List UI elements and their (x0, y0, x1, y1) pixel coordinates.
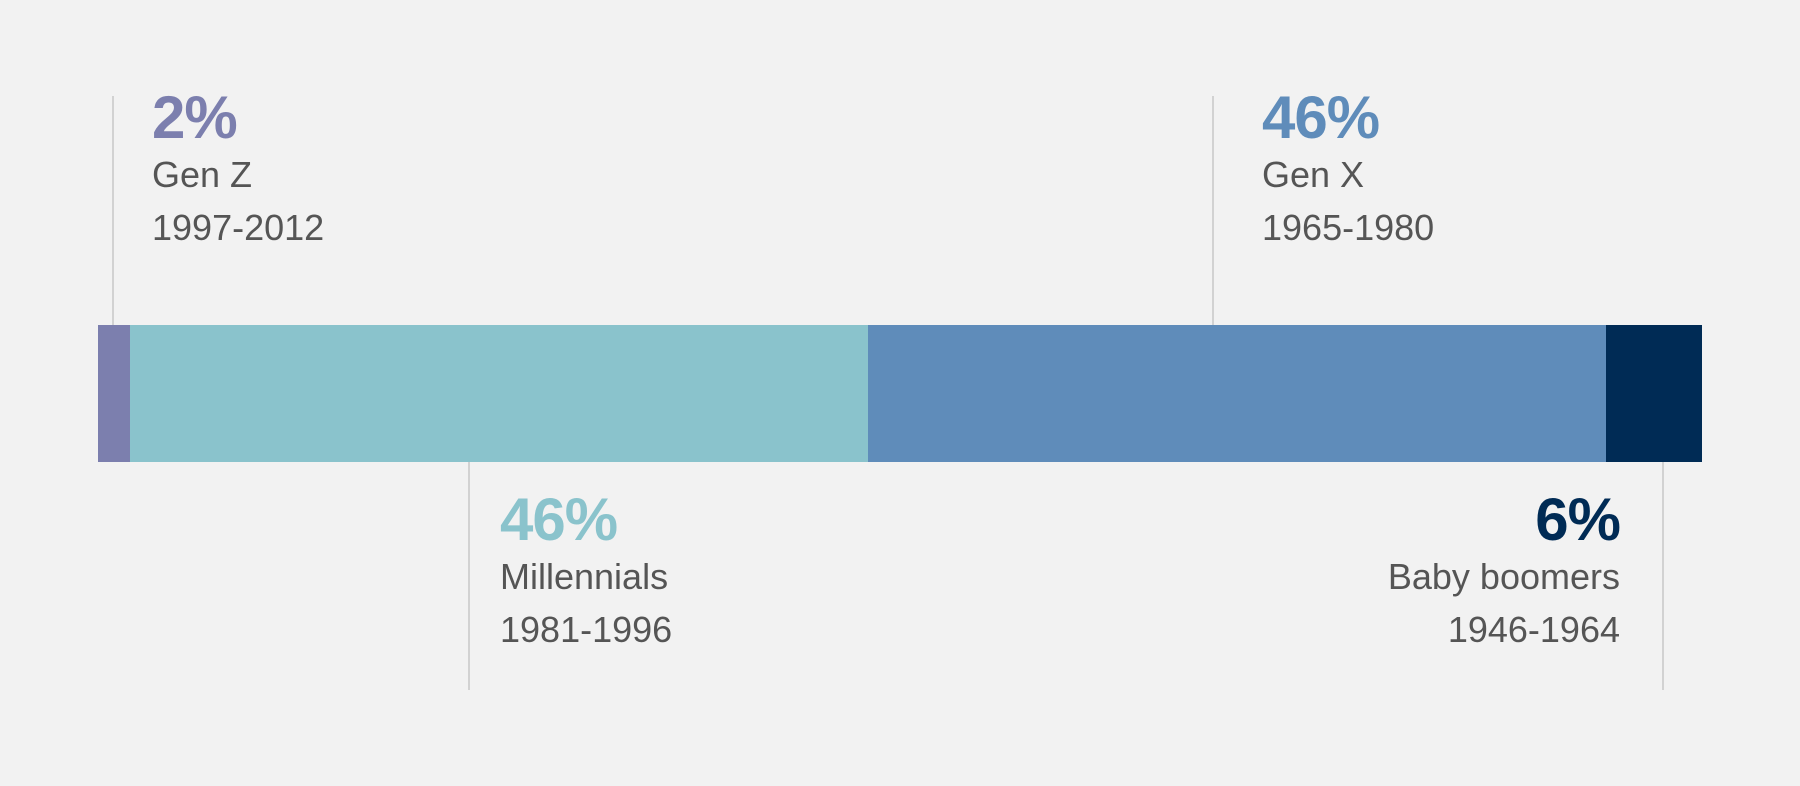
leader-line-gen-x (1212, 96, 1214, 325)
category-label-baby-boomers: Baby boomers (1388, 550, 1620, 603)
leader-line-millennials (468, 462, 470, 690)
category-label-gen-x: Gen X (1262, 148, 1434, 201)
label-block-gen-z: 2% Gen Z 1997-2012 (152, 88, 324, 255)
bar-segment-gen-z[interactable] (98, 325, 130, 462)
bar-segment-baby-boomers[interactable] (1606, 325, 1702, 462)
years-label-gen-x: 1965-1980 (1262, 201, 1434, 254)
value-label-millennials: 46% (500, 490, 672, 550)
category-label-millennials: Millennials (500, 550, 672, 603)
category-label-gen-z: Gen Z (152, 148, 324, 201)
leader-line-gen-z (112, 96, 114, 325)
generation-share-stacked-bar-chart: 2% Gen Z 1997-2012 46% Gen X 1965-1980 4… (0, 0, 1800, 786)
years-label-baby-boomers: 1946-1964 (1388, 603, 1620, 656)
value-label-baby-boomers: 6% (1388, 490, 1620, 550)
value-label-gen-x: 46% (1262, 88, 1434, 148)
label-block-millennials: 46% Millennials 1981-1996 (500, 490, 672, 657)
years-label-millennials: 1981-1996 (500, 603, 672, 656)
label-block-gen-x: 46% Gen X 1965-1980 (1262, 88, 1434, 255)
bar-segment-gen-x[interactable] (868, 325, 1606, 462)
years-label-gen-z: 1997-2012 (152, 201, 324, 254)
bar-segment-millennials[interactable] (130, 325, 868, 462)
leader-line-baby-boomers (1662, 462, 1664, 690)
stacked-bar (98, 325, 1702, 462)
label-block-baby-boomers: 6% Baby boomers 1946-1964 (1388, 490, 1620, 657)
value-label-gen-z: 2% (152, 88, 324, 148)
